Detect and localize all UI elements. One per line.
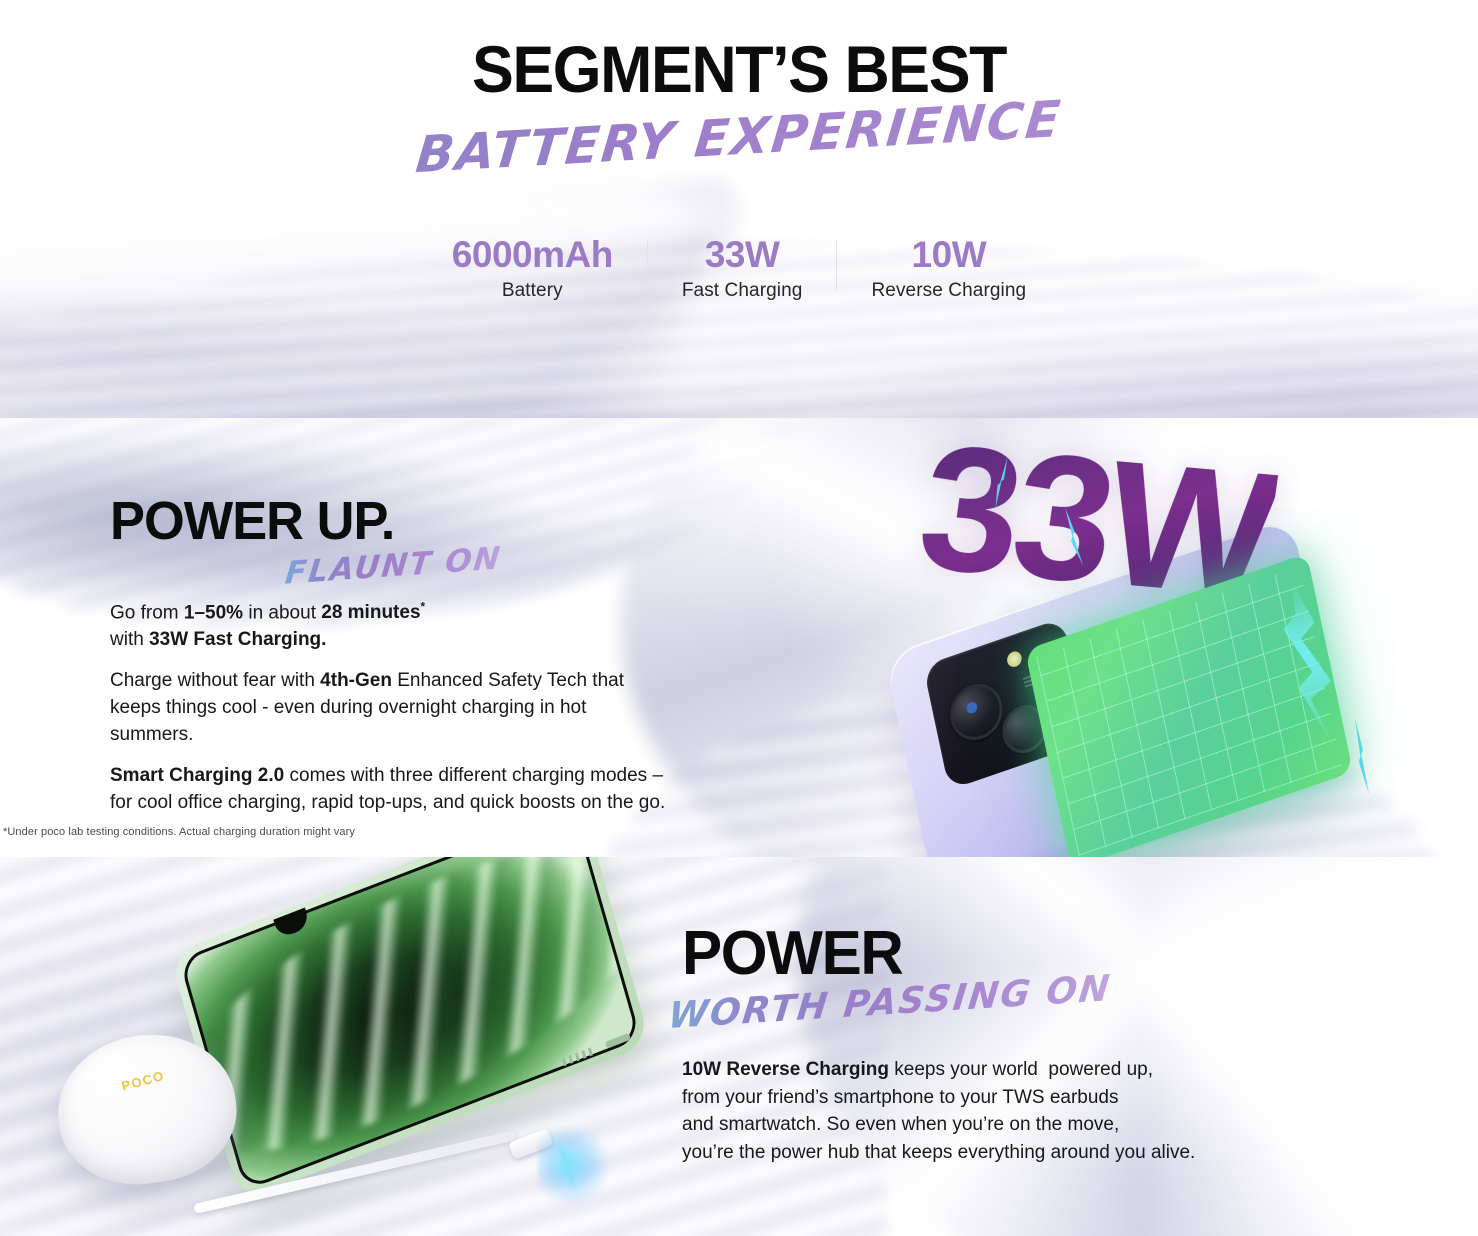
stat-label: Battery [452, 280, 613, 302]
stat-value: 6000mAh [452, 236, 613, 275]
stat-value: 33W [682, 236, 803, 275]
hero-stats-row: 6000mAh Battery 33W Fast Charging 10W Re… [0, 236, 1478, 302]
reverse-charging-section: POCO [0, 857, 1478, 1236]
poco-brand-logo: POCO [120, 1068, 166, 1094]
power-up-body-copy: Go from 1–50% in about 28 minutes*with 3… [110, 600, 670, 817]
camera-lens-icon [945, 677, 1007, 748]
camera-flash-icon [1006, 649, 1023, 669]
reverse-charging-swirl-right [798, 857, 1478, 1236]
stat-label: Fast Charging [682, 280, 803, 302]
poco-battery-marketing-page: SEGMENT’S BEST BATTERY EXPERIENCE 6000mA… [0, 0, 1478, 1236]
paragraph-safety-tech: Charge without fear with 4th-Gen Enhance… [110, 668, 670, 749]
stat-label: Reverse Charging [871, 280, 1026, 302]
stat-reverse-charging: 10W Reverse Charging [837, 236, 1060, 302]
paragraph-fast-charging: Go from 1–50% in about 28 minutes*with 3… [110, 600, 670, 654]
stat-battery: 6000mAh Battery [418, 236, 647, 302]
power-up-footnote: *Under poco lab testing conditions. Actu… [3, 826, 355, 838]
paragraph-smart-charging: Smart Charging 2.0 comes with three diff… [110, 763, 670, 817]
lightning-bolt-icon [1353, 718, 1370, 796]
stat-fast-charging: 33W Fast Charging [648, 236, 837, 302]
power-up-heading: POWER UP. [110, 490, 394, 552]
reverse-charging-heading: POWER [682, 918, 902, 989]
fast-charging-artwork: 33W [890, 432, 1450, 852]
reverse-charging-artwork: POCO [40, 867, 660, 1236]
hero-section: SEGMENT’S BEST BATTERY EXPERIENCE 6000mA… [0, 0, 1478, 418]
charging-spark-icon [538, 1129, 612, 1203]
reverse-charging-body-copy: 10W Reverse Charging keeps your world po… [682, 1056, 1262, 1166]
stat-value: 10W [871, 236, 1026, 275]
paragraph-reverse-charging: 10W Reverse Charging keeps your world po… [682, 1056, 1262, 1166]
